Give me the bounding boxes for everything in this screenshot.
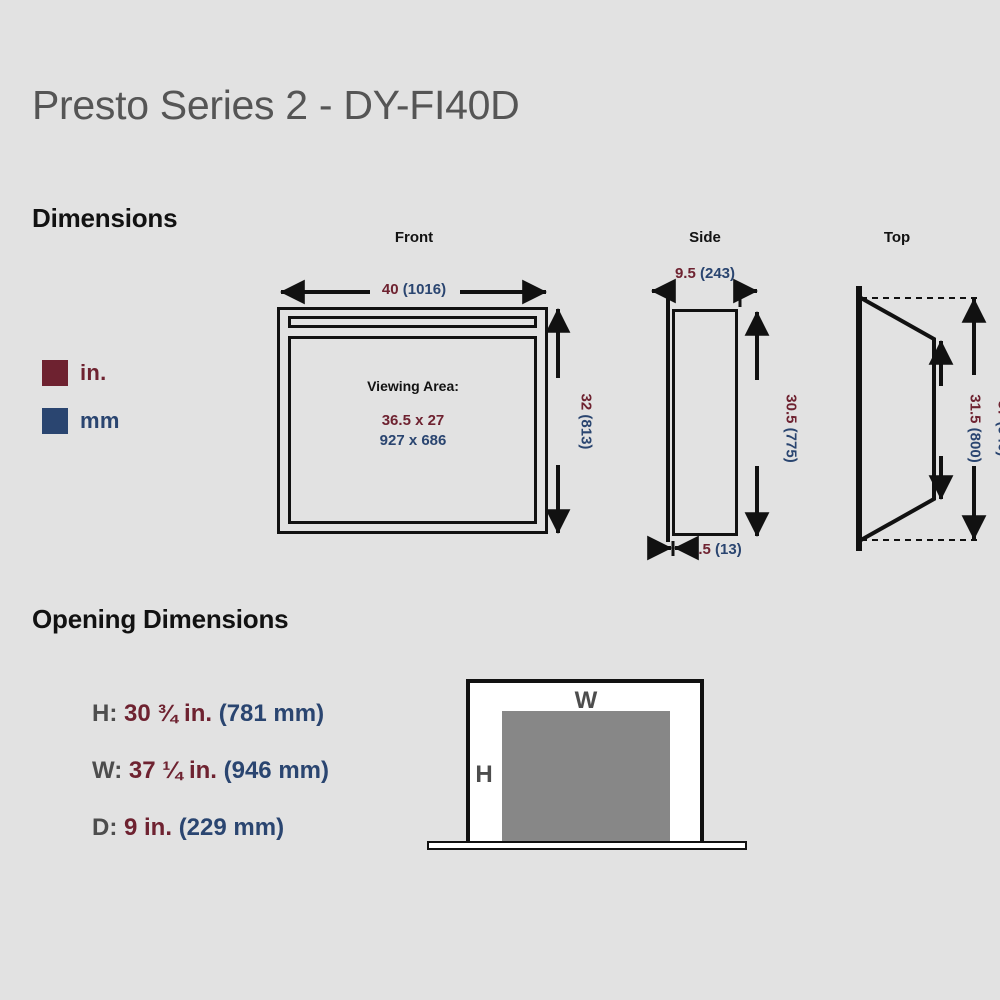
side-view-caption: Side xyxy=(689,229,721,246)
top-outer-dimension-label: 37 (940) xyxy=(994,401,1000,457)
opening-inner-fill xyxy=(502,711,670,845)
top-inner-millimeters: (800) xyxy=(967,428,984,463)
side-height-millimeters: (775) xyxy=(783,428,800,463)
opening-height-inches: 30 ¾ in. xyxy=(124,700,212,727)
side-depth-millimeters: (243) xyxy=(700,265,735,282)
top-inner-inches: 31.5 xyxy=(967,394,984,423)
front-width-dimension-label: 40 (1016) xyxy=(382,281,446,298)
side-view-flange xyxy=(666,297,670,542)
viewing-area-millimeters: 927 x 686 xyxy=(380,432,447,449)
front-view-top-bar xyxy=(288,316,537,328)
spec-sheet-page: Presto Series 2 - DY-FI40D Dimensions in… xyxy=(0,0,1000,1000)
top-view-trapezoid xyxy=(861,298,934,540)
opening-width-key: W: xyxy=(92,757,122,784)
top-inner-dimension-label: 31.5 (800) xyxy=(967,394,984,462)
front-width-millimeters: (1016) xyxy=(403,281,446,298)
opening-floor-line xyxy=(427,841,747,850)
opening-width-inches: 37 ¼ in. xyxy=(129,757,217,784)
side-height-dimension-label: 30.5 (775) xyxy=(783,394,800,462)
opening-diagram-height-label: H xyxy=(475,761,492,789)
side-height-inches: 30.5 xyxy=(783,394,800,423)
front-height-millimeters: (813) xyxy=(577,414,594,449)
legend-item-millimeters: mm xyxy=(42,408,120,434)
side-flange-arrow xyxy=(655,541,691,556)
legend-item-inches: in. xyxy=(42,360,107,386)
viewing-area-title: Viewing Area: xyxy=(367,378,459,394)
viewing-area-inches: 36.5 x 27 xyxy=(382,412,445,429)
front-view-caption: Front xyxy=(395,229,433,246)
page-title: Presto Series 2 - DY-FI40D xyxy=(32,82,519,129)
legend-swatch-inches-icon xyxy=(42,360,68,386)
opening-row-height: H: 30 ¾ in. (781 mm) xyxy=(92,700,324,728)
side-depth-dimension-label: 9.5 (243) xyxy=(675,265,735,282)
opening-width-millimeters: (946 mm) xyxy=(224,757,329,784)
opening-height-millimeters: (781 mm) xyxy=(219,700,324,727)
front-height-inches: 32 xyxy=(577,394,594,411)
legend-label-millimeters: mm xyxy=(80,408,120,434)
side-flange-dimension-label: 0.5 (13) xyxy=(690,541,742,558)
side-view-body xyxy=(672,309,738,536)
opening-row-width: W: 37 ¼ in. (946 mm) xyxy=(92,757,329,785)
front-width-inches: 40 xyxy=(382,281,399,298)
front-height-dimension-label: 32 (813) xyxy=(577,394,594,450)
opening-depth-key: D: xyxy=(92,814,117,841)
opening-height-key: H: xyxy=(92,700,117,727)
opening-depth-millimeters: (229 mm) xyxy=(179,814,284,841)
legend-label-inches: in. xyxy=(80,360,107,386)
top-view-panel xyxy=(856,286,862,551)
opening-row-depth: D: 9 in. (229 mm) xyxy=(92,814,284,842)
top-outer-inches: 37 xyxy=(994,401,1000,418)
legend-swatch-millimeters-icon xyxy=(42,408,68,434)
opening-dimensions-heading: Opening Dimensions xyxy=(32,604,288,635)
opening-depth-inches: 9 in. xyxy=(124,814,172,841)
dimensions-heading: Dimensions xyxy=(32,203,177,234)
opening-diagram-width-label: W xyxy=(575,687,598,715)
side-flange-millimeters: (13) xyxy=(715,541,742,558)
top-view-leader-lines xyxy=(861,298,978,540)
front-view-inner-panel xyxy=(288,336,537,524)
top-outer-millimeters: (940) xyxy=(994,421,1000,456)
side-flange-inches: 0.5 xyxy=(690,541,711,558)
side-depth-inches: 9.5 xyxy=(675,265,696,282)
top-view-caption: Top xyxy=(884,229,910,246)
